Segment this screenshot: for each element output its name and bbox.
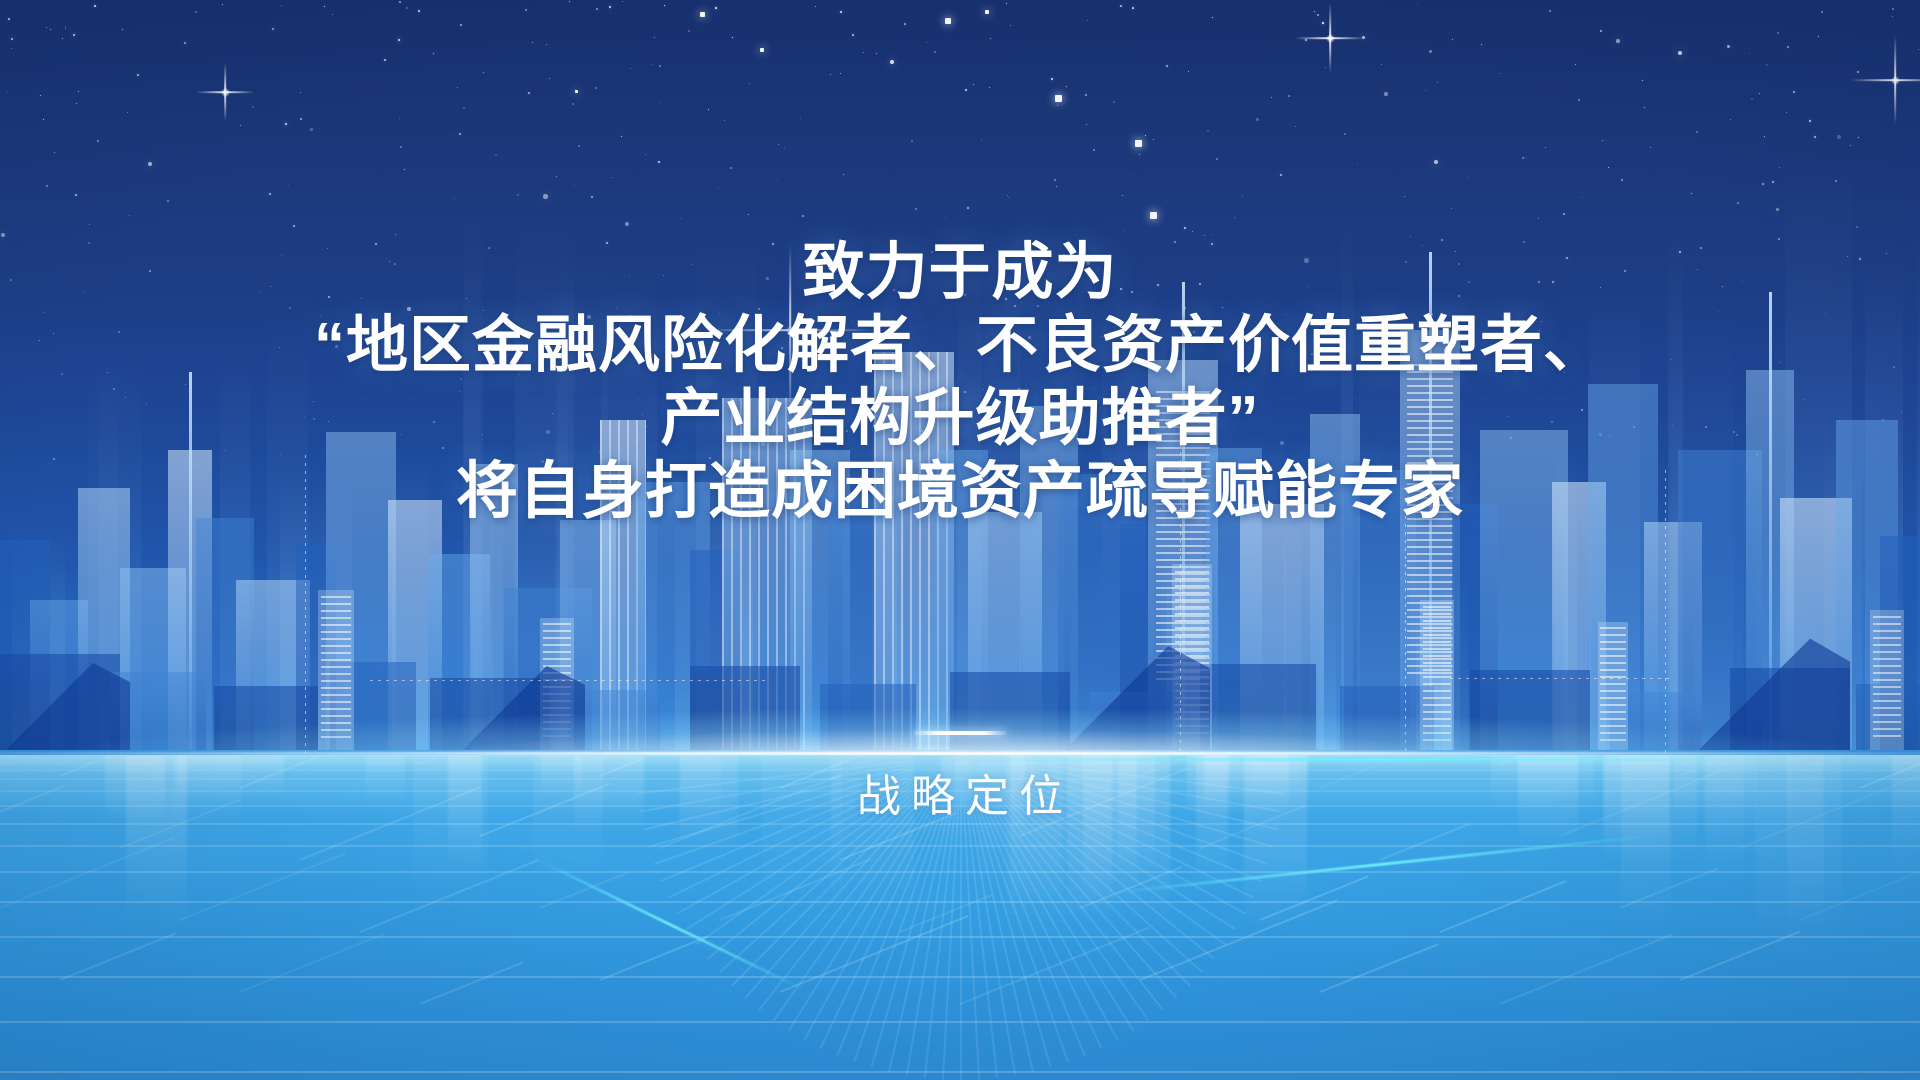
star bbox=[621, 136, 622, 137]
grid-accent-stroke bbox=[420, 961, 524, 1004]
star bbox=[1087, 20, 1088, 21]
star bbox=[1166, 65, 1168, 67]
star bbox=[517, 194, 519, 196]
star bbox=[399, 118, 400, 119]
star bbox=[453, 135, 454, 136]
star bbox=[843, 174, 844, 175]
star bbox=[1749, 53, 1750, 54]
star bbox=[1779, 167, 1780, 168]
star bbox=[1621, 179, 1623, 181]
star bbox=[460, 24, 462, 26]
star bbox=[1730, 119, 1731, 120]
star bbox=[54, 152, 55, 153]
star bbox=[1434, 160, 1438, 164]
star bbox=[148, 162, 152, 166]
star bbox=[1113, 101, 1115, 103]
star bbox=[926, 42, 927, 43]
star bbox=[1132, 7, 1134, 9]
star bbox=[122, 29, 123, 30]
star bbox=[1818, 36, 1819, 37]
star bbox=[658, 161, 660, 163]
star bbox=[1835, 180, 1837, 182]
star bbox=[1678, 51, 1682, 55]
grid-accent-stroke bbox=[60, 932, 177, 981]
star bbox=[664, 5, 665, 6]
star bbox=[777, 179, 778, 180]
star bbox=[1305, 39, 1307, 41]
star bbox=[1207, 130, 1209, 132]
star bbox=[1616, 39, 1620, 43]
star bbox=[546, 44, 547, 45]
star bbox=[659, 65, 661, 67]
star bbox=[1055, 99, 1056, 100]
star bbox=[732, 37, 733, 38]
star bbox=[454, 198, 455, 199]
star bbox=[1608, 167, 1609, 168]
star bbox=[1093, 149, 1095, 151]
star bbox=[525, 9, 527, 11]
star bbox=[285, 123, 287, 125]
guide-line-horizontal bbox=[1450, 678, 1670, 679]
star bbox=[1314, 11, 1315, 12]
star bbox=[1787, 46, 1789, 48]
star-bright bbox=[700, 12, 705, 17]
guide-line-vertical bbox=[1405, 500, 1406, 755]
star bbox=[1650, 147, 1651, 148]
star bbox=[1837, 135, 1841, 139]
star bbox=[406, 7, 408, 9]
star bbox=[749, 83, 750, 84]
star bbox=[1857, 71, 1859, 73]
star bbox=[269, 193, 271, 195]
star bbox=[1525, 157, 1526, 158]
headline-line-3: 产业结构升级助推者” bbox=[0, 382, 1920, 455]
grid-accent-stroke bbox=[240, 933, 385, 993]
star bbox=[332, 14, 333, 15]
star bbox=[240, 125, 241, 126]
star bbox=[1010, 25, 1011, 26]
star bbox=[863, 52, 864, 53]
star bbox=[65, 28, 66, 29]
star bbox=[532, 42, 533, 43]
star bbox=[184, 42, 186, 44]
star bbox=[1522, 157, 1524, 159]
star bbox=[549, 78, 550, 79]
star bbox=[784, 148, 785, 149]
grid-accent-stroke bbox=[1320, 943, 1439, 993]
star bbox=[1777, 32, 1779, 34]
star bbox=[904, 23, 906, 25]
star bbox=[688, 30, 690, 32]
star bbox=[815, 6, 816, 7]
star bbox=[1288, 95, 1290, 97]
star bbox=[578, 145, 580, 147]
star bbox=[973, 84, 974, 85]
star bbox=[404, 169, 405, 170]
star bbox=[76, 103, 77, 104]
star bbox=[778, 144, 779, 145]
star bbox=[495, 154, 497, 156]
building-banded bbox=[1870, 610, 1904, 750]
star bbox=[73, 34, 75, 36]
star bbox=[840, 73, 841, 74]
star bbox=[1892, 8, 1894, 10]
star bbox=[654, 37, 655, 38]
star bbox=[1549, 10, 1551, 12]
star-bright bbox=[945, 18, 951, 24]
star bbox=[272, 28, 274, 30]
headline-block: 致力于成为 “地区金融风险化解者、不良资产价值重塑者、 产业结构升级助推者” 将… bbox=[0, 236, 1920, 529]
star bbox=[911, 140, 913, 142]
building bbox=[690, 666, 800, 750]
star bbox=[75, 194, 77, 196]
star bbox=[97, 140, 99, 142]
star bbox=[46, 27, 47, 28]
star bbox=[1325, 67, 1326, 68]
star bbox=[1437, 82, 1438, 83]
star bbox=[724, 120, 725, 121]
grid-accent-stroke bbox=[1440, 880, 1567, 933]
star bbox=[1850, 145, 1851, 146]
star bbox=[46, 185, 48, 187]
star bbox=[1727, 45, 1730, 48]
star bbox=[1122, 195, 1123, 196]
star bbox=[1575, 64, 1576, 65]
star bbox=[575, 89, 576, 90]
star-bright bbox=[575, 90, 578, 93]
building bbox=[820, 684, 916, 750]
star bbox=[1344, 133, 1346, 135]
star bbox=[127, 112, 128, 113]
star bbox=[1762, 183, 1764, 185]
star bbox=[1242, 196, 1243, 197]
subtitle-label: 战略定位 bbox=[0, 760, 1920, 824]
star bbox=[8, 18, 10, 20]
star bbox=[990, 38, 991, 39]
grid-accent-stroke bbox=[1500, 933, 1673, 1005]
star bbox=[433, 53, 434, 54]
star bbox=[610, 12, 611, 13]
star bbox=[730, 167, 732, 169]
star bbox=[1404, 196, 1405, 197]
star bbox=[572, 103, 574, 105]
headline-line-1: 致力于成为 bbox=[0, 236, 1920, 309]
star-bright bbox=[760, 48, 764, 52]
star bbox=[876, 53, 877, 54]
star bbox=[630, 68, 631, 69]
building bbox=[214, 686, 318, 750]
star bbox=[1772, 181, 1774, 183]
star bbox=[1139, 154, 1140, 155]
star bbox=[660, 102, 661, 103]
star bbox=[1814, 136, 1816, 138]
star bbox=[288, 185, 289, 186]
star bbox=[840, 11, 842, 13]
star bbox=[1357, 164, 1358, 165]
star bbox=[1821, 11, 1823, 13]
star bbox=[324, 6, 325, 7]
star bbox=[137, 74, 139, 76]
star bbox=[1057, 105, 1058, 106]
star bbox=[622, 1, 623, 2]
section-divider bbox=[914, 731, 1006, 735]
grid-accent-stroke bbox=[600, 936, 708, 981]
star bbox=[1691, 193, 1692, 194]
star bbox=[195, 11, 197, 13]
star bbox=[1130, 175, 1131, 176]
star bbox=[1007, 195, 1008, 196]
star bbox=[281, 5, 282, 6]
star bbox=[596, 8, 598, 10]
star bbox=[1892, 16, 1893, 17]
star bbox=[1786, 112, 1787, 113]
star bbox=[78, 91, 79, 92]
star bbox=[543, 194, 548, 199]
star bbox=[1858, 137, 1859, 138]
building bbox=[1470, 670, 1590, 750]
star bbox=[483, 72, 484, 73]
star bbox=[1759, 93, 1760, 94]
star bbox=[965, 89, 967, 91]
star bbox=[1751, 98, 1753, 100]
star-bright bbox=[1055, 95, 1062, 102]
star bbox=[1429, 50, 1432, 53]
star bbox=[569, 1, 570, 2]
star bbox=[1417, 3, 1418, 4]
star bbox=[1086, 124, 1087, 125]
star bbox=[1381, 64, 1382, 65]
star bbox=[1642, 80, 1643, 81]
star bbox=[310, 128, 313, 131]
star bbox=[1602, 140, 1603, 141]
star bbox=[1545, 147, 1546, 148]
star bbox=[651, 64, 652, 65]
star bbox=[252, 106, 254, 108]
star bbox=[708, 109, 709, 110]
star-bright bbox=[985, 10, 989, 14]
star bbox=[1085, 94, 1087, 96]
star bbox=[591, 196, 593, 198]
star bbox=[384, 59, 386, 61]
building-banded bbox=[318, 590, 354, 750]
star bbox=[830, 74, 831, 75]
star bbox=[1212, 17, 1213, 18]
star bbox=[7, 91, 8, 92]
star bbox=[1481, 44, 1482, 45]
star bbox=[418, 10, 420, 12]
star bbox=[1766, 64, 1768, 66]
star bbox=[1317, 14, 1319, 16]
star bbox=[1764, 136, 1765, 137]
star bbox=[1384, 92, 1388, 96]
star bbox=[609, 6, 611, 8]
star bbox=[1696, 131, 1698, 133]
star bbox=[1271, 97, 1272, 98]
star bbox=[989, 87, 990, 88]
star bbox=[595, 87, 597, 89]
star bbox=[463, 107, 465, 109]
star bbox=[399, 1, 401, 3]
star bbox=[852, 34, 854, 36]
star bbox=[300, 118, 302, 120]
star bbox=[1809, 120, 1811, 122]
star bbox=[1280, 174, 1282, 176]
star bbox=[457, 87, 458, 88]
star bbox=[718, 188, 719, 189]
star bbox=[1188, 71, 1189, 72]
grid-accent-stroke bbox=[180, 852, 347, 921]
star bbox=[1153, 139, 1154, 140]
star bbox=[1644, 107, 1645, 108]
star bbox=[800, 118, 801, 119]
building-banded bbox=[1598, 622, 1628, 750]
star bbox=[1582, 197, 1583, 198]
star bbox=[1120, 5, 1122, 7]
slide-canvas: 致力于成为 “地区金融风险化解者、不良资产价值重塑者、 产业结构升级助推者” 将… bbox=[0, 0, 1920, 1080]
star bbox=[11, 48, 12, 49]
star bbox=[556, 176, 557, 177]
star bbox=[40, 95, 41, 96]
star bbox=[1066, 86, 1067, 87]
star bbox=[1918, 49, 1919, 50]
star bbox=[934, 51, 936, 53]
building bbox=[1200, 664, 1316, 750]
star bbox=[1008, 197, 1009, 198]
star bbox=[11, 38, 13, 40]
star bbox=[645, 154, 646, 155]
building bbox=[950, 672, 1070, 750]
headline-line-2: “地区金融风险化解者、不良资产价值重塑者、 bbox=[0, 309, 1920, 382]
building-banded bbox=[1420, 600, 1454, 750]
star bbox=[1468, 177, 1469, 178]
star bbox=[1322, 22, 1324, 24]
star bbox=[400, 146, 402, 148]
star bbox=[611, 177, 612, 178]
star bbox=[43, 119, 44, 120]
star bbox=[981, 140, 982, 141]
star bbox=[1054, 179, 1056, 181]
star bbox=[1216, 158, 1218, 160]
star bbox=[222, 4, 223, 5]
star bbox=[1362, 36, 1365, 39]
star bbox=[459, 133, 461, 135]
star bbox=[1145, 135, 1146, 136]
star bbox=[1295, 126, 1296, 127]
star bbox=[1425, 90, 1426, 91]
star bbox=[1499, 73, 1500, 74]
star bbox=[574, 185, 575, 186]
star bbox=[528, 92, 530, 94]
star bbox=[1600, 30, 1602, 32]
star bbox=[1056, 186, 1057, 187]
headline-line-4: 将自身打造成困境资产疏导赋能专家 bbox=[0, 455, 1920, 528]
star bbox=[890, 60, 894, 64]
star-bright bbox=[1135, 140, 1142, 147]
star bbox=[300, 92, 301, 93]
star bbox=[94, 5, 96, 7]
star bbox=[62, 38, 63, 39]
star bbox=[398, 39, 400, 41]
star bbox=[1793, 91, 1795, 93]
star bbox=[1578, 99, 1580, 101]
guide-line-horizontal bbox=[370, 680, 770, 681]
horizon-line bbox=[0, 752, 1920, 755]
star bbox=[65, 26, 66, 27]
star bbox=[1452, 39, 1453, 40]
star bbox=[1051, 78, 1053, 80]
star bbox=[1006, 3, 1007, 4]
star bbox=[50, 29, 51, 30]
star bbox=[1256, 118, 1259, 121]
star bbox=[715, 7, 717, 9]
